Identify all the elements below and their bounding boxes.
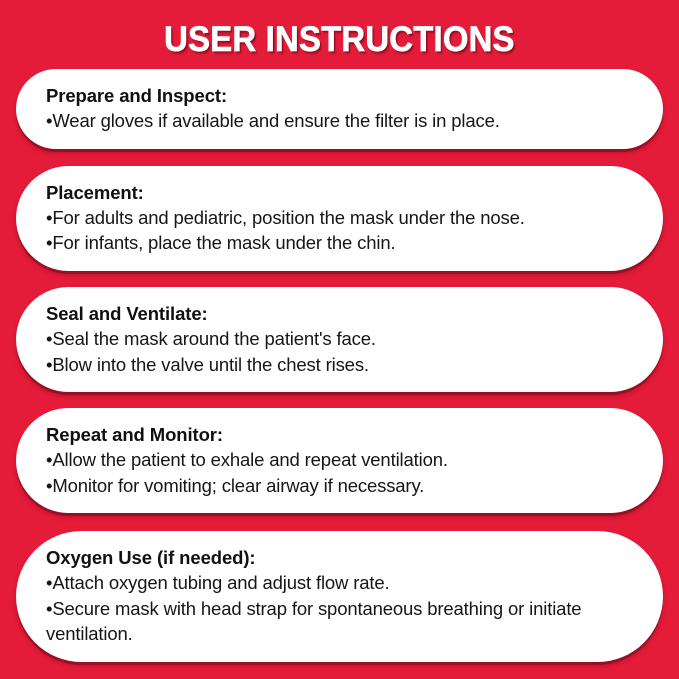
- card-bullet-line: •For adults and pediatric, position the …: [46, 205, 629, 231]
- instruction-card: Repeat and Monitor: •Allow the patient t…: [16, 408, 663, 513]
- card-bullet-line: •Monitor for vomiting; clear airway if n…: [46, 473, 629, 499]
- card-bullet-text: Monitor for vomiting; clear airway if ne…: [52, 475, 424, 496]
- card-bullet-text: Secure mask with head strap for spontane…: [46, 598, 581, 645]
- card-bullet-text: For adults and pediatric, position the m…: [52, 207, 524, 228]
- instructions-poster: USER INSTRUCTIONS Prepare and Inspect: •…: [0, 0, 679, 679]
- card-heading: Placement:: [46, 180, 629, 205]
- card-bullet-text: Allow the patient to exhale and repeat v…: [52, 449, 448, 470]
- card-bullet-text: Seal the mask around the patient's face.: [52, 328, 376, 349]
- card-bullet-line: •Secure mask with head strap for spontan…: [46, 596, 629, 647]
- card-heading: Seal and Ventilate:: [46, 301, 629, 326]
- instruction-card: Oxygen Use (if needed): •Attach oxygen t…: [16, 531, 663, 662]
- card-bullet-line: •For infants, place the mask under the c…: [46, 230, 629, 256]
- card-bullet-line: •Seal the mask around the patient's face…: [46, 326, 629, 352]
- card-heading: Repeat and Monitor:: [46, 422, 629, 447]
- card-bullet-line: •Attach oxygen tubing and adjust flow ra…: [46, 570, 629, 596]
- card-bullet-line: •Blow into the valve until the chest ris…: [46, 352, 629, 378]
- card-bullet-line: •Wear gloves if available and ensure the…: [46, 108, 629, 134]
- instruction-card-list: Prepare and Inspect: •Wear gloves if ava…: [0, 69, 679, 679]
- card-bullet-text: Wear gloves if available and ensure the …: [52, 110, 499, 131]
- page-title: USER INSTRUCTIONS: [164, 22, 515, 57]
- card-bullet-text: Attach oxygen tubing and adjust flow rat…: [52, 572, 389, 593]
- card-bullet-text: Blow into the valve until the chest rise…: [52, 354, 369, 375]
- card-bullet-text: For infants, place the mask under the ch…: [52, 232, 395, 253]
- card-heading: Prepare and Inspect:: [46, 83, 629, 108]
- instruction-card: Placement: •For adults and pediatric, po…: [16, 166, 663, 271]
- card-heading: Oxygen Use (if needed):: [46, 545, 629, 570]
- card-bullet-line: •Allow the patient to exhale and repeat …: [46, 447, 629, 473]
- instruction-card: Prepare and Inspect: •Wear gloves if ava…: [16, 69, 663, 149]
- instruction-card: Seal and Ventilate: •Seal the mask aroun…: [16, 287, 663, 392]
